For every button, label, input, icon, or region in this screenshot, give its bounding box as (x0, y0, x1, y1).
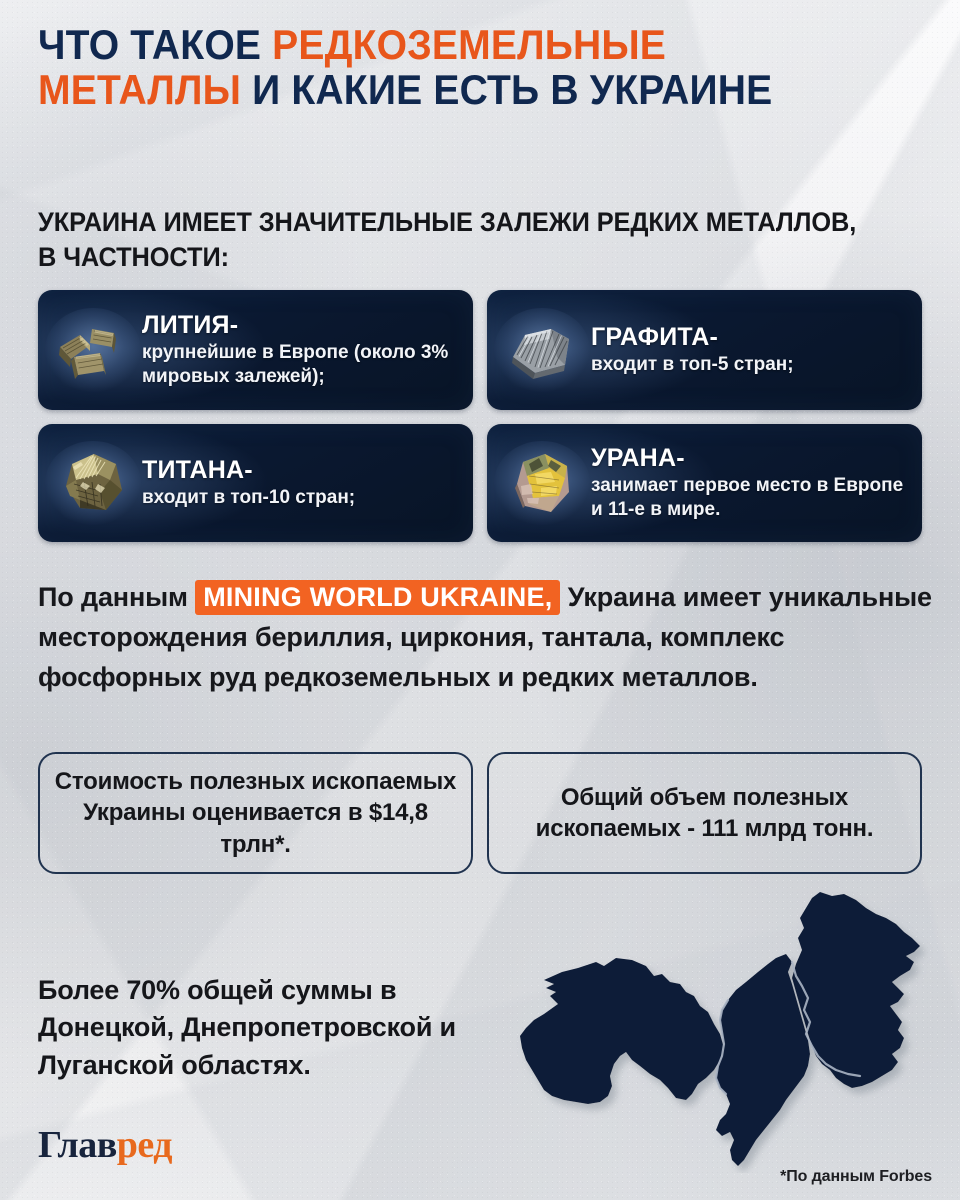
logo-part-2: ред (117, 1124, 172, 1166)
mineral-desc: входит в топ-5 стран; (591, 353, 906, 376)
stat-box-row: Стоимость полезных ископаемых Украины оц… (38, 752, 922, 874)
mineral-title: ЛИТИЯ- (142, 311, 457, 339)
subtitle: УКРАИНА ИМЕЕТ ЗНАЧИТЕЛЬНЫЕ ЗАЛЕЖИ РЕДКИХ… (38, 205, 865, 274)
uranium-ore-icon (499, 446, 585, 520)
mineral-card-graphite: ГРАФИТА- входит в топ-5 стран; (487, 290, 922, 410)
mineral-card-titanium: ТИТАНА- входит в топ-10 стран; (38, 424, 473, 542)
mineral-card-lithium: ЛИТИЯ- крупнейшие в Европе (около 3% мир… (38, 290, 473, 410)
titanium-ore-icon (50, 446, 136, 520)
mineral-card-row-1: ЛИТИЯ- крупнейшие в Европе (около 3% мир… (38, 290, 922, 410)
stat-text: Стоимость полезных ископаемых Украины оц… (54, 766, 457, 860)
mineral-desc: входит в топ-10 стран; (142, 486, 457, 509)
stat-box-value: Стоимость полезных ископаемых Украины оц… (38, 752, 473, 874)
mineral-title: ТИТАНА- (142, 456, 457, 484)
mineral-card-row-2: ТИТАНА- входит в топ-10 стран; (38, 424, 922, 542)
mining-world-ukraine-badge: MINING WORLD UKRAINE, (195, 580, 560, 615)
headline-part-1: ЧТО ТАКОЕ (38, 21, 272, 68)
mineral-card-grid: ЛИТИЯ- крупнейшие в Европе (около 3% мир… (38, 290, 922, 556)
stat-text: Общий объем полезных ископаемых - 111 мл… (503, 782, 906, 844)
mineral-title: ГРАФИТА- (591, 323, 906, 351)
page-title: ЧТО ТАКОЕ РЕДКОЗЕМЕЛЬНЫЕ МЕТАЛЛЫ И КАКИЕ… (38, 22, 856, 113)
ukraine-eastern-regions-map (500, 888, 960, 1173)
paragraph-lead: По данным (38, 582, 195, 612)
lithium-ore-icon (50, 313, 136, 387)
logo-part-1: Глав (38, 1124, 117, 1166)
graphite-ore-icon (499, 313, 585, 387)
headline-part-2: И КАКИЕ ЕСТЬ В УКРАИНЕ (241, 66, 772, 113)
mineral-desc: крупнейшие в Европе (около 3% мировых за… (142, 341, 457, 387)
mineral-title: УРАНА- (591, 444, 906, 472)
mineral-desc: занимает первое место в Европе и 11-е в … (591, 474, 906, 520)
infographic-page: ЧТО ТАКОЕ РЕДКОЗЕМЕЛЬНЫЕ МЕТАЛЛЫ И КАКИЕ… (0, 0, 960, 1200)
stat-box-volume: Общий объем полезных ископаемых - 111 мл… (487, 752, 922, 874)
source-paragraph: По данным MINING WORLD UKRAINE, Украина … (38, 577, 938, 698)
forbes-footnote: *По данным Forbes (780, 1168, 932, 1186)
mineral-card-uranium: УРАНА- занимает первое место в Европе и … (487, 424, 922, 542)
glavred-logo[interactable]: Главред (38, 1126, 172, 1164)
regions-text: Более 70% общей суммы в Донецкой, Днепро… (38, 972, 478, 1084)
